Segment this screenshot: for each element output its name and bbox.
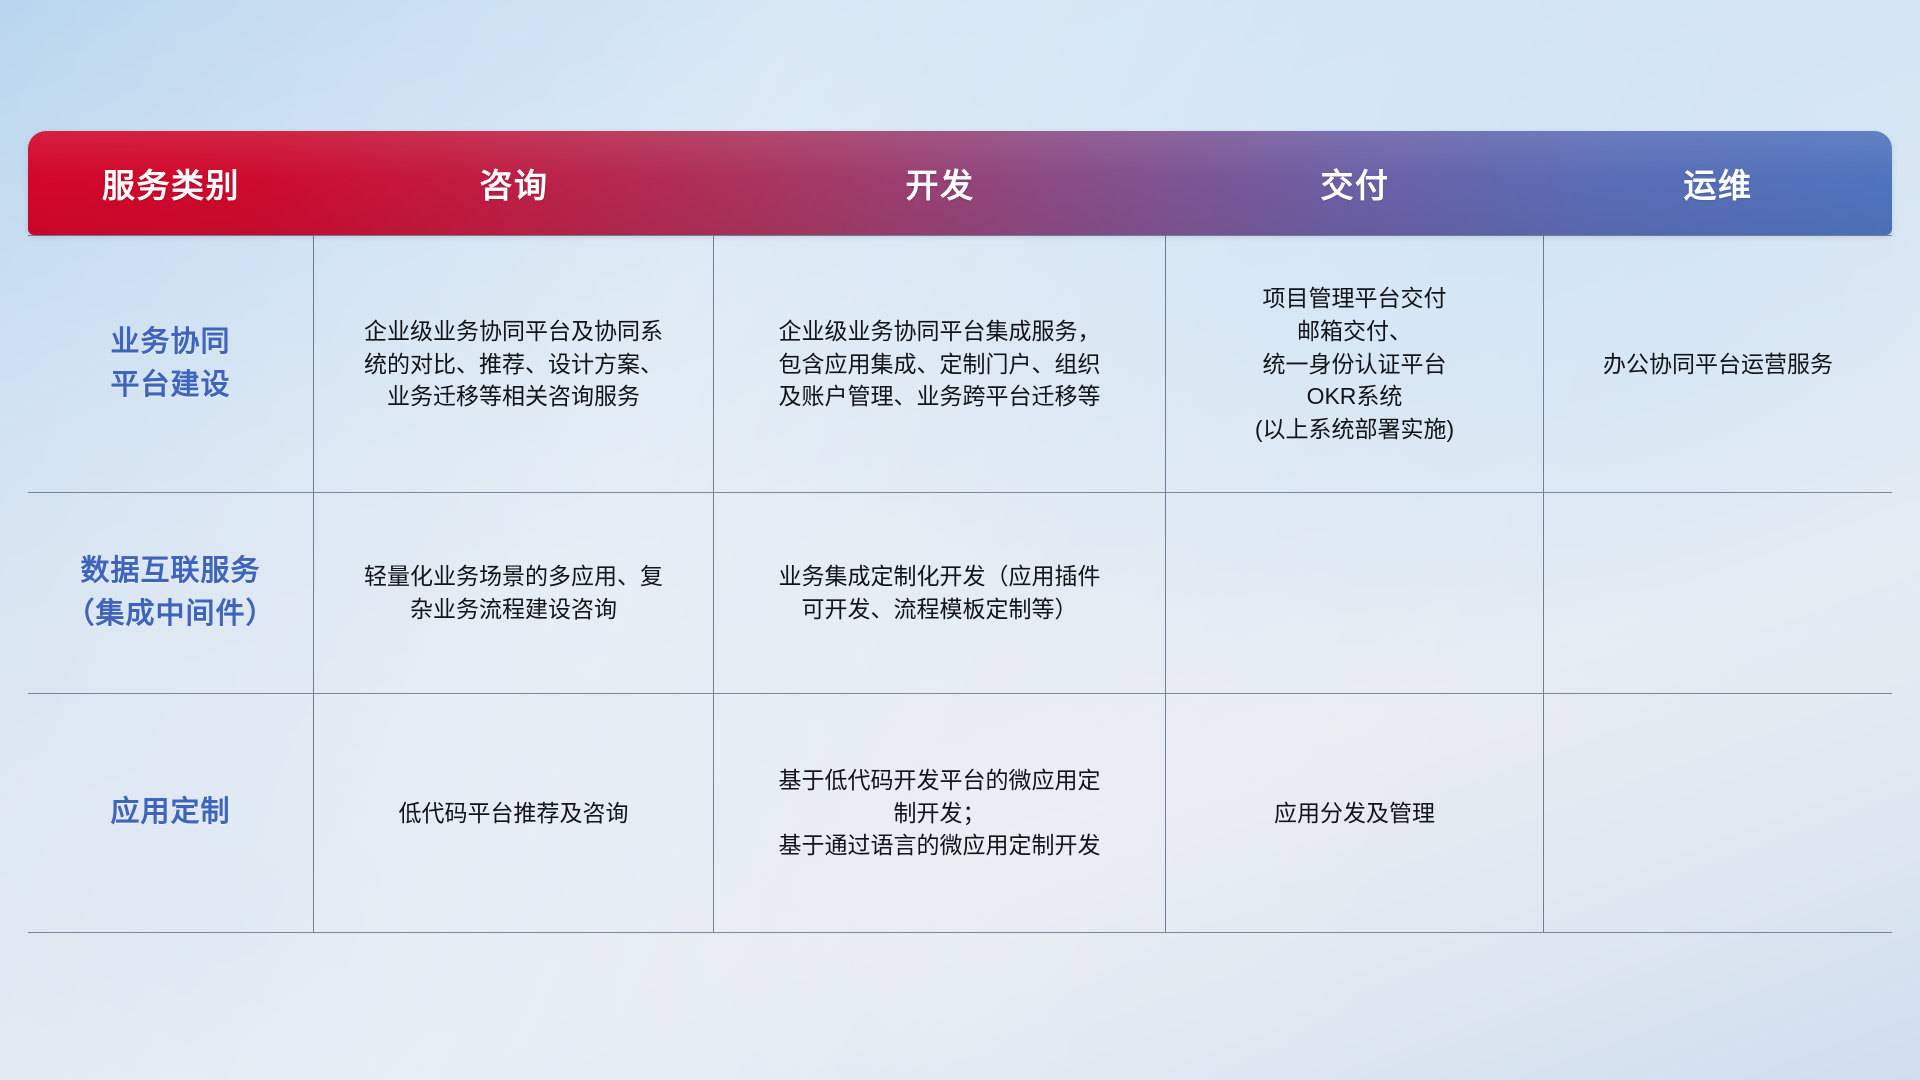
service-category-table: 服务类别 咨询 开发 交付 运维 业务协同 平台建设 企业级业务协同平台及协同系… xyxy=(28,131,1892,949)
row-category-label: 应用定制 xyxy=(28,694,314,932)
cell-operations: 办公协同平台运营服务 xyxy=(1544,236,1892,492)
row-category-label: 业务协同 平台建设 xyxy=(28,236,314,492)
cell-operations xyxy=(1544,493,1892,693)
cell-consulting: 低代码平台推荐及咨询 xyxy=(314,694,714,932)
cell-development: 业务集成定制化开发（应用插件 可开发、流程模板定制等） xyxy=(714,493,1166,693)
column-header-operations: 运维 xyxy=(1544,159,1892,207)
column-header-service-category: 服务类别 xyxy=(28,159,314,207)
table-body: 业务协同 平台建设 企业级业务协同平台及协同系 统的对比、推荐、设计方案、 业务… xyxy=(28,235,1892,933)
cell-delivery xyxy=(1166,493,1544,693)
cell-delivery: 项目管理平台交付 邮箱交付、 统一身份认证平台 OKR系统 (以上系统部署实施) xyxy=(1166,236,1544,492)
cell-delivery: 应用分发及管理 xyxy=(1166,694,1544,932)
cell-consulting: 企业级业务协同平台及协同系 统的对比、推荐、设计方案、 业务迁移等相关咨询服务 xyxy=(314,236,714,492)
cell-consulting: 轻量化业务场景的多应用、复 杂业务流程建设咨询 xyxy=(314,493,714,693)
cell-operations xyxy=(1544,694,1892,932)
cell-development: 企业级业务协同平台集成服务， 包含应用集成、定制门户、组织 及账户管理、业务跨平… xyxy=(714,236,1166,492)
column-header-development: 开发 xyxy=(714,159,1166,207)
table-header-row: 服务类别 咨询 开发 交付 运维 xyxy=(28,131,1892,235)
row-category-label: 数据互联服务 （集成中间件） xyxy=(28,493,314,693)
table-row: 数据互联服务 （集成中间件） 轻量化业务场景的多应用、复 杂业务流程建设咨询 业… xyxy=(28,493,1892,694)
table-row: 业务协同 平台建设 企业级业务协同平台及协同系 统的对比、推荐、设计方案、 业务… xyxy=(28,236,1892,493)
table-row: 应用定制 低代码平台推荐及咨询 基于低代码开发平台的微应用定 制开发； 基于通过… xyxy=(28,694,1892,933)
column-header-consulting: 咨询 xyxy=(314,159,714,207)
column-header-delivery: 交付 xyxy=(1166,159,1544,207)
cell-development: 基于低代码开发平台的微应用定 制开发； 基于通过语言的微应用定制开发 xyxy=(714,694,1166,932)
